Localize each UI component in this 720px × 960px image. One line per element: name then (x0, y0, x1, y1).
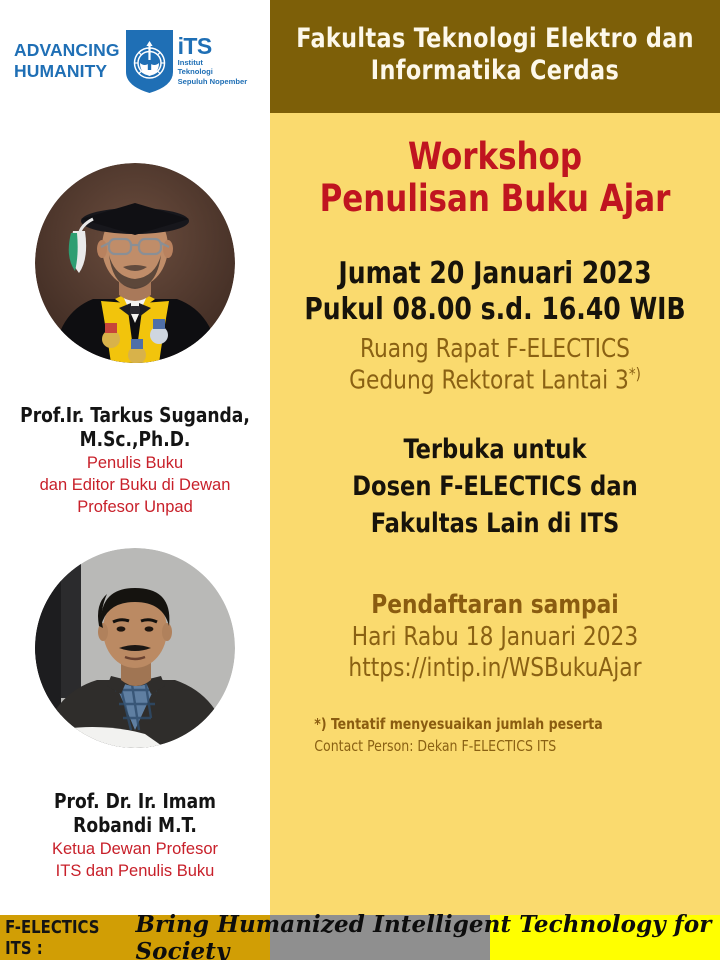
speaker-2-name-line-1: Prof. Dr. Ir. Imam (7, 789, 264, 813)
footnote-line-1: *) Tentatif menyesuaikan jumlah peserta (314, 714, 693, 736)
left-column: ADVANCING HUMANITY (0, 0, 270, 915)
speaker-1-name-line-1: Prof.Ir. Tarkus Suganda, (7, 403, 264, 427)
brand-bar: ADVANCING HUMANITY (0, 22, 270, 100)
speaker-2-role-line-2: ITS dan Penulis Buku (0, 861, 270, 881)
registration-deadline: Hari Rabu 18 Januari 2023 (297, 622, 693, 653)
faculty-header-line-2: Informatika Cerdas (371, 55, 619, 87)
advancing-humanity-tagline: ADVANCING HUMANITY (14, 40, 120, 83)
speaker-1-name-line-2: M.Sc.,Ph.D. (7, 427, 264, 451)
its-wordmark: iTS Institut Teknologi Sepuluh Nopember (178, 36, 248, 86)
audience-line-2: Dosen F-ELECTICS dan (297, 468, 693, 505)
speaker-2-name-line-2: Robandi M.T. (7, 813, 264, 837)
event-venue: Ruang Rapat F-ELECTICS Gedung Rektorat L… (282, 334, 708, 397)
event-time: Pukul 08.00 s.d. 16.40 WIB (297, 292, 693, 328)
its-shield-logo-icon (126, 30, 173, 93)
speaker-2-info: Prof. Dr. Ir. Imam Robandi M.T. Ketua De… (0, 789, 270, 881)
registration-block: Pendaftaran sampai Hari Rabu 18 Januari … (282, 590, 708, 684)
event-title-line-1: Workshop (297, 136, 693, 178)
event-venue-line-1: Ruang Rapat F-ELECTICS (297, 334, 693, 365)
footer-prefix: F-ELECTICS ITS : (5, 917, 123, 959)
tagline-line-1: ADVANCING (14, 40, 120, 61)
speaker-2-role-line-1: Ketua Dewan Profesor (0, 839, 270, 859)
speaker-1-role-line-3: Profesor Unpad (0, 497, 270, 517)
speaker-1-role-line-1: Penulis Buku (0, 453, 270, 473)
poster-root: Fakultas Teknologi Elektro dan Informati… (0, 0, 720, 960)
event-schedule: Jumat 20 Januari 2023 Pukul 08.00 s.d. 1… (282, 256, 708, 328)
faculty-header-bar: Fakultas Teknologi Elektro dan Informati… (270, 0, 720, 113)
registration-link[interactable]: https://intip.in/WSBukuAjar (297, 653, 693, 684)
speaker-1-info: Prof.Ir. Tarkus Suganda, M.Sc.,Ph.D. Pen… (0, 403, 270, 517)
event-title-line-2: Penulisan Buku Ajar (297, 178, 693, 220)
faculty-header-line-1: Fakultas Teknologi Elektro dan (296, 23, 694, 55)
its-sub-line-1: Institut (178, 58, 248, 67)
event-venue-line-2: Gedung Rektorat Lantai 3*) (297, 364, 693, 396)
its-logo: iTS Institut Teknologi Sepuluh Nopember (126, 30, 248, 93)
its-wordmark-text: iTS (178, 36, 248, 58)
portrait-professor-academic-regalia (35, 163, 235, 363)
event-title: Workshop Penulisan Buku Ajar (282, 113, 708, 220)
event-date: Jumat 20 Januari 2023 (297, 256, 693, 292)
speaker-1-role-line-2: dan Editor Buku di Dewan (0, 475, 270, 495)
footnotes-block: *) Tentatif menyesuaikan jumlah peserta … (282, 714, 708, 758)
event-details-panel: Workshop Penulisan Buku Ajar Jumat 20 Ja… (270, 113, 720, 915)
event-venue-line-2-text: Gedung Rektorat Lantai 3 (349, 366, 629, 396)
speaker-1-photo (35, 163, 235, 363)
its-sub-line-3: Sepuluh Nopember (178, 77, 248, 86)
portrait-professor-plaid-shirt (35, 548, 235, 748)
footer-banner: F-ELECTICS ITS : Bring Humanized Intelli… (0, 915, 720, 960)
tagline-line-2: HUMANITY (14, 61, 120, 82)
footer-slogan: Bring Humanized Intelligent Technology f… (135, 911, 720, 960)
audience-line-1: Terbuka untuk (297, 431, 693, 468)
audience-line-3: Fakultas Lain di ITS (297, 505, 693, 542)
event-audience: Terbuka untuk Dosen F-ELECTICS dan Fakul… (282, 431, 708, 543)
speaker-2-photo (35, 548, 235, 748)
venue-footnote-marker: *) (629, 364, 641, 383)
registration-heading: Pendaftaran sampai (297, 590, 693, 621)
its-sub-line-2: Teknologi (178, 67, 248, 76)
footer-text: F-ELECTICS ITS : Bring Humanized Intelli… (0, 915, 720, 960)
footnote-line-2: Contact Person: Dekan F-ELECTICS ITS (314, 736, 693, 758)
